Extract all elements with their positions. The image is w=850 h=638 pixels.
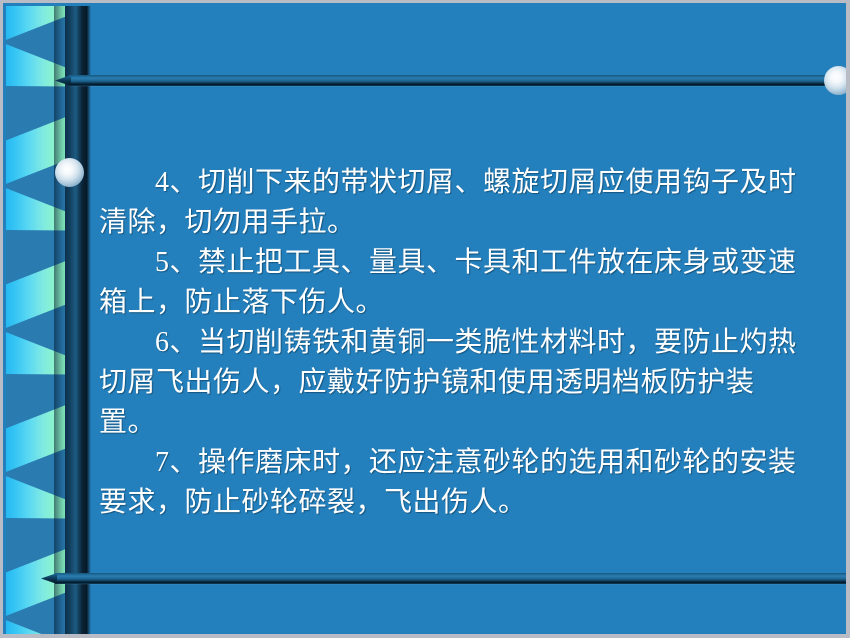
ribbon-band — [6, 330, 68, 402]
ribbon-decoration — [6, 6, 68, 637]
body-paragraph-4: 4、切削下来的带状切屑、螺旋切屑应使用钩子及时清除，切勿用手拉。 — [99, 163, 799, 243]
top-divider-rule — [69, 75, 840, 86]
ribbon-notch-bottom — [6, 86, 68, 114]
ribbon-notch-bottom — [6, 518, 68, 546]
ribbon-notch-bottom — [6, 230, 68, 258]
ribbon-band — [6, 6, 68, 42]
body-paragraph-7: 7、操作磨床时，还应注意砂轮的选用和砂轮的安装要求，防止砂轮碎裂，飞出伤人。 — [99, 443, 799, 523]
glow-orb-icon — [55, 158, 84, 187]
presentation-slide: 4、切削下来的带状切屑、螺旋切屑应使用钩子及时清除，切勿用手拉。 5、禁止把工具… — [0, 0, 850, 638]
ribbon-band — [6, 186, 68, 258]
bottom-divider-rule — [55, 573, 850, 584]
vertical-spine-bar — [65, 6, 87, 637]
slide-body-content: 4、切削下来的带状切屑、螺旋切屑应使用钩子及时清除，切勿用手拉。 5、禁止把工具… — [99, 163, 799, 523]
body-paragraph-6: 6、当切削铸铁和黄铜一类脆性材料时，要防止灼热切屑飞出伤人，应戴好防护镜和使用透… — [99, 323, 799, 443]
ribbon-notch-bottom — [6, 374, 68, 402]
body-paragraph-5: 5、禁止把工具、量具、卡具和工件放在床身或变速箱上，防止落下伤人。 — [99, 243, 799, 323]
ribbon-band — [6, 258, 68, 330]
ribbon-band — [6, 402, 68, 474]
ribbon-band — [6, 618, 68, 637]
vertical-spine-edge — [87, 6, 91, 637]
glow-orb-icon — [824, 66, 850, 95]
ribbon-band — [6, 474, 68, 546]
ribbon-band — [6, 42, 68, 114]
